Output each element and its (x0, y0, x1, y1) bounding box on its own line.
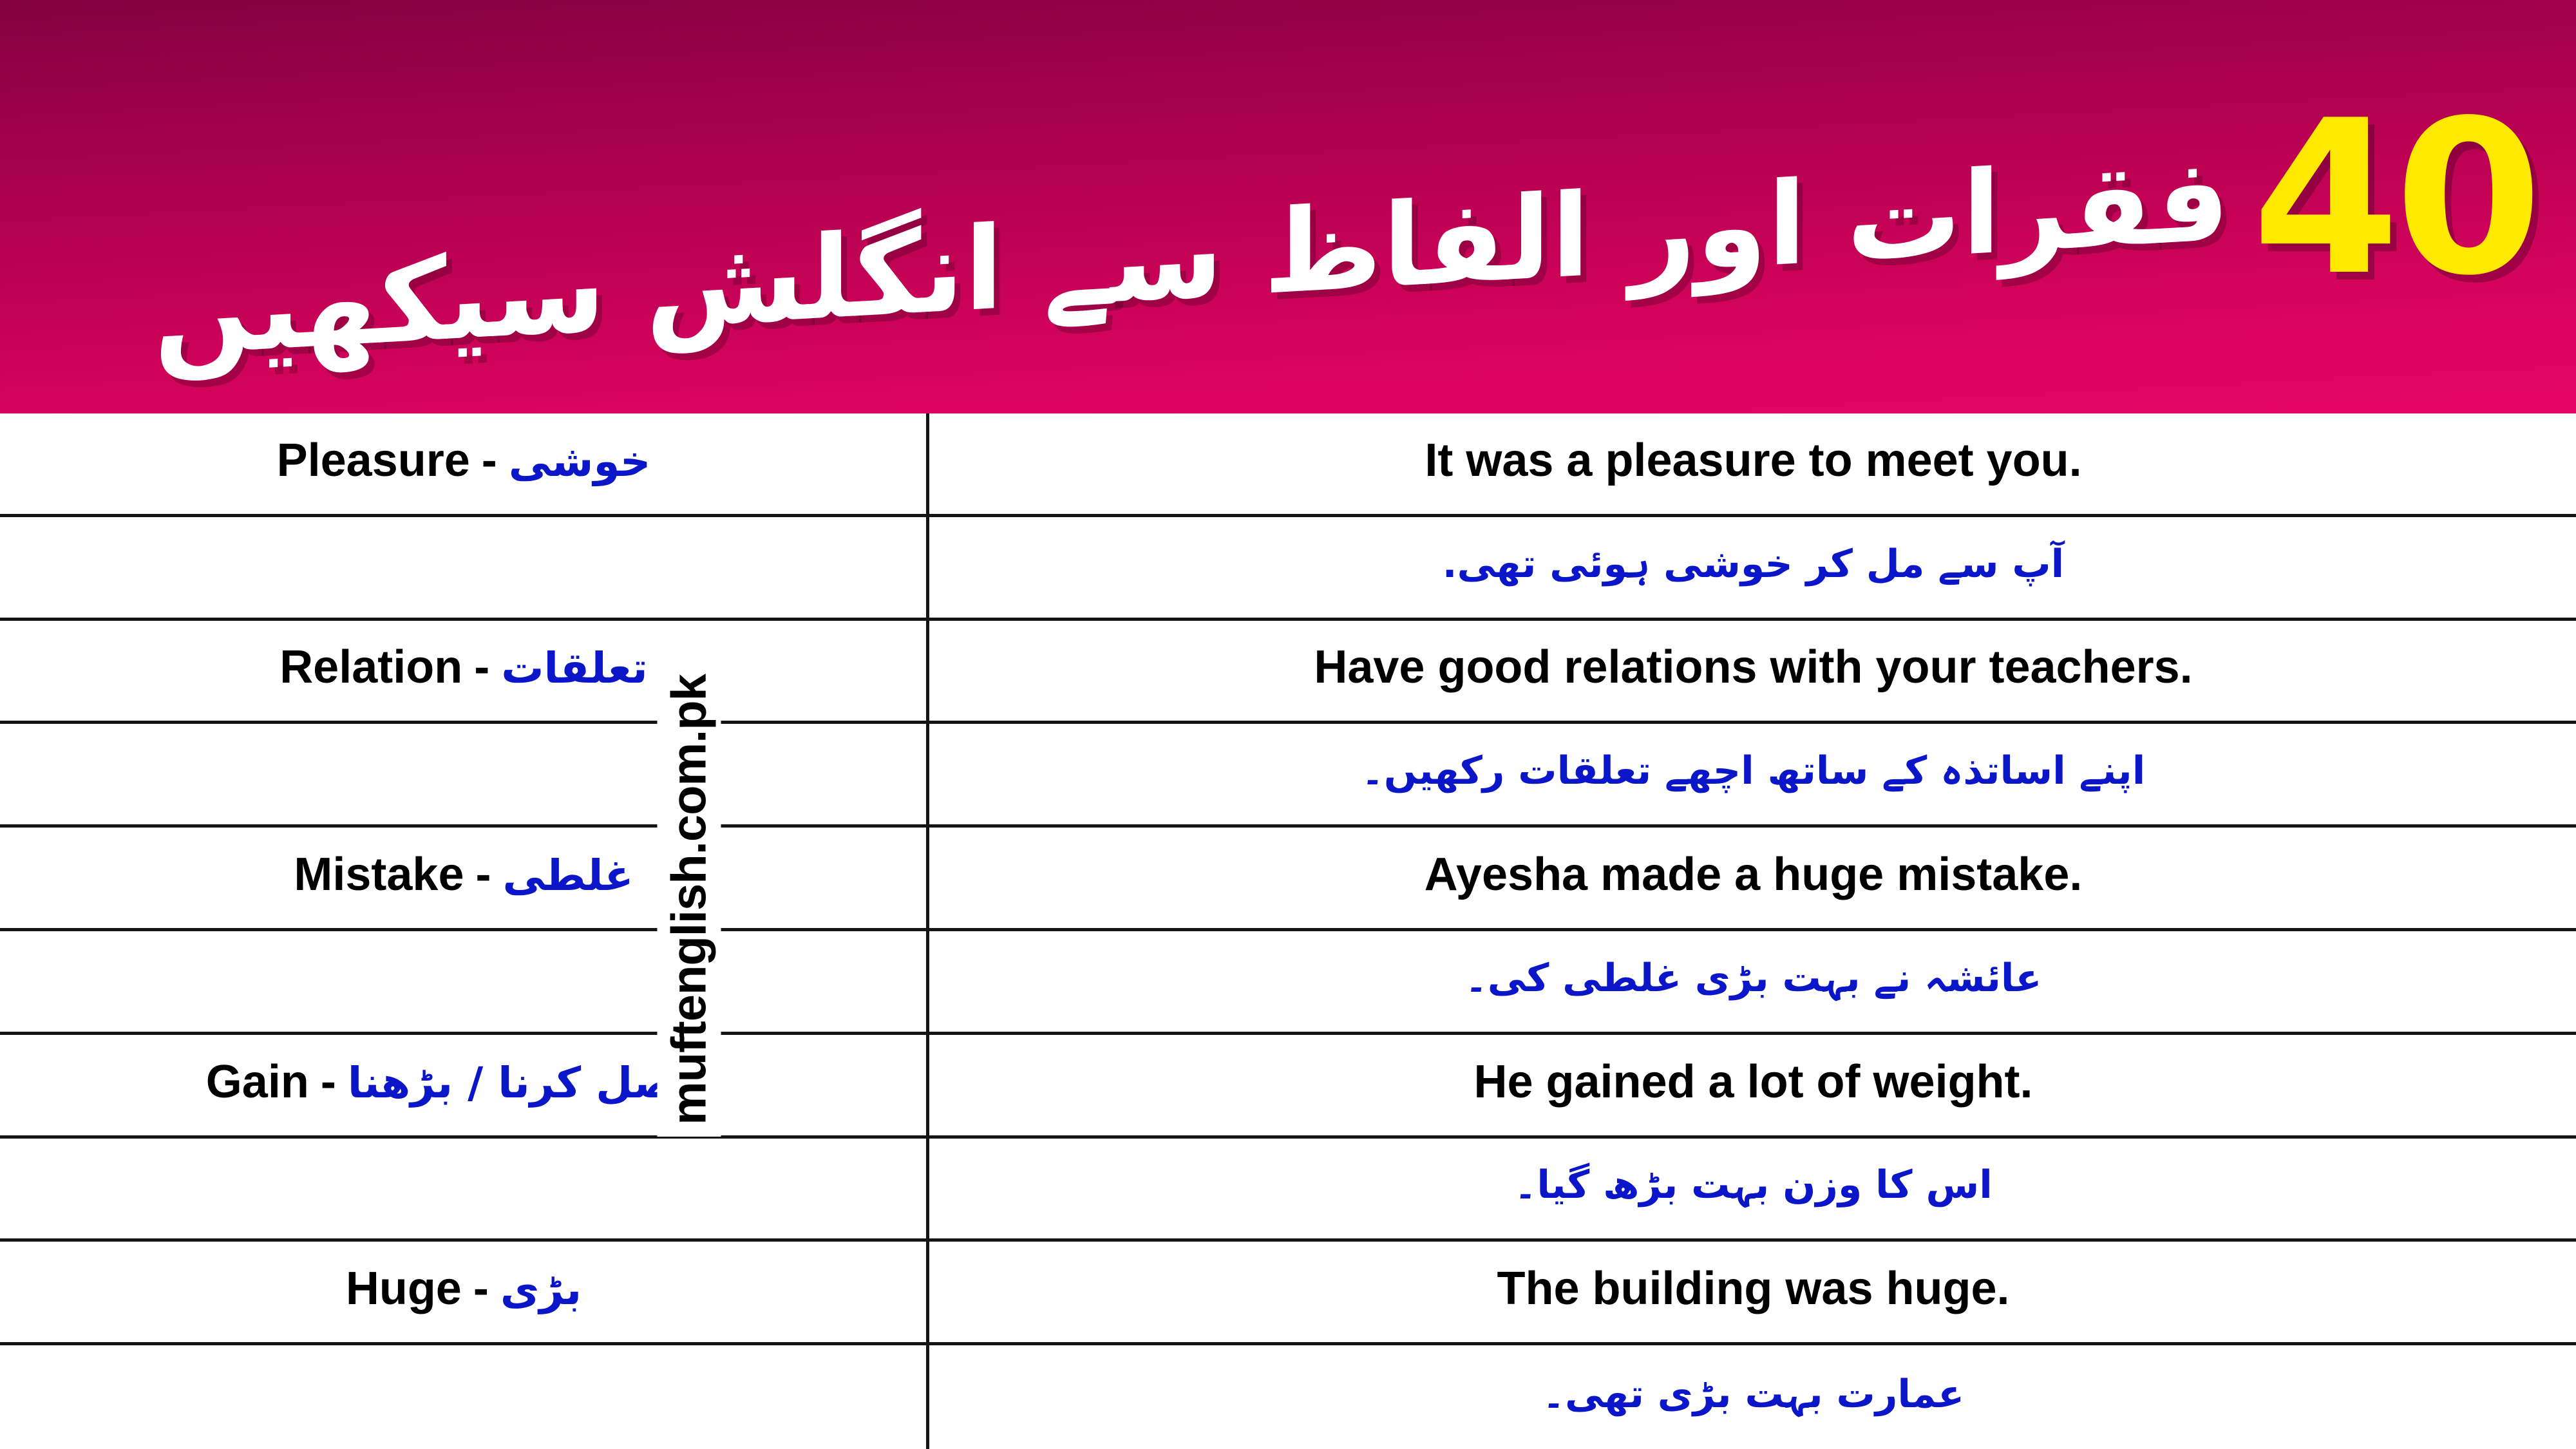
word-separator: - (482, 434, 497, 487)
header-count-number: 40 (2252, 111, 2537, 303)
word-pair: Gain - حاصل کرنا / بڑھنا (206, 1056, 721, 1108)
sentence-urdu: آپ سے مل کر خوشی ہوئی تھی. (1443, 542, 2064, 587)
word-cell-empty (0, 517, 927, 618)
word-separator: - (476, 848, 491, 901)
table-row: عمارت بہت بڑی تھی۔ (0, 1345, 2576, 1449)
sentence-cell: عائشہ نے بہت بڑی غلطی کی۔ (931, 931, 2576, 1032)
sentence-cell: اپنے اساتذہ کے ساتھ اچھے تعلقات رکھیں۔ (931, 724, 2576, 824)
word-pair: Huge - بڑی (346, 1262, 582, 1315)
word-cell: Relation - تعلقات (0, 621, 927, 721)
word-cell: Pleasure - خوشی (0, 413, 927, 514)
sentence-cell: آپ سے مل کر خوشی ہوئی تھی. (931, 517, 2576, 618)
word-urdu: خوشی (509, 437, 651, 486)
word-separator: - (473, 1262, 489, 1315)
table-row: Relation - تعلقات Have good relations wi… (0, 621, 2576, 724)
table-row: اپنے اساتذہ کے ساتھ اچھے تعلقات رکھیں۔ (0, 724, 2576, 828)
vocabulary-sheet-page: 40 فقرات اور الفاظ سے انگلش سیکھیں Pleas… (0, 0, 2576, 1449)
sentence-english: The building was huge. (1497, 1262, 2009, 1315)
header-content: 40 فقرات اور الفاظ سے انگلش سیکھیں (154, 0, 2537, 413)
header-title-urdu: فقرات اور الفاظ سے انگلش سیکھیں (154, 132, 2230, 397)
word-cell-empty (0, 724, 927, 824)
sentence-english: He gained a lot of weight. (1473, 1056, 2032, 1108)
table-row: Huge - بڑی The building was huge. (0, 1242, 2576, 1345)
word-english: Mistake (294, 848, 464, 901)
table-row: آپ سے مل کر خوشی ہوئی تھی. (0, 517, 2576, 621)
table-row: Mistake - غلطی Ayesha made a huge mistak… (0, 828, 2576, 931)
word-english: Relation (279, 641, 462, 694)
word-cell-empty (0, 1139, 927, 1239)
watermark-site-url: muftenglish.com.pk (658, 663, 721, 1137)
sentence-cell: اس کا وزن بہت بڑھ گیا۔ (931, 1139, 2576, 1239)
word-separator: - (321, 1056, 336, 1108)
word-english: Huge (346, 1262, 462, 1315)
table-row: اس کا وزن بہت بڑھ گیا۔ (0, 1139, 2576, 1242)
word-cell: Mistake - غلطی (0, 828, 927, 928)
table-row: Gain - حاصل کرنا / بڑھنا He gained a lot… (0, 1035, 2576, 1139)
word-cell: Gain - حاصل کرنا / بڑھنا (0, 1035, 927, 1135)
sentence-cell: It was a pleasure to meet you. (931, 413, 2576, 514)
word-cell: Huge - بڑی (0, 1242, 927, 1342)
word-english: Pleasure (277, 434, 470, 487)
sentence-english: Ayesha made a huge mistake. (1425, 848, 2083, 901)
sentence-urdu: عمارت بہت بڑی تھی۔ (1542, 1372, 1964, 1417)
word-pair: Relation - تعلقات (279, 641, 648, 694)
sentence-urdu: اس کا وزن بہت بڑھ گیا۔ (1514, 1162, 1993, 1207)
word-separator: - (474, 641, 489, 694)
word-cell-empty (0, 931, 927, 1032)
word-urdu: بڑی (500, 1265, 582, 1314)
word-urdu: تعلقات (501, 643, 648, 693)
word-english: Gain (206, 1056, 309, 1108)
table-row: Pleasure - خوشی It was a pleasure to mee… (0, 413, 2576, 517)
vocabulary-table: Pleasure - خوشی It was a pleasure to mee… (0, 413, 2576, 1449)
sentence-cell: Have good relations with your teachers. (931, 621, 2576, 721)
sentence-english: Have good relations with your teachers. (1314, 641, 2192, 694)
sentence-cell: Ayesha made a huge mistake. (931, 828, 2576, 928)
sentence-urdu: اپنے اساتذہ کے ساتھ اچھے تعلقات رکھیں۔ (1361, 748, 2146, 793)
sentence-cell: He gained a lot of weight. (931, 1035, 2576, 1135)
sentence-cell: The building was huge. (931, 1242, 2576, 1342)
sentence-english: It was a pleasure to meet you. (1425, 434, 2081, 487)
word-urdu: غلطی (503, 851, 634, 900)
word-pair: Mistake - غلطی (294, 848, 633, 901)
sentence-cell: عمارت بہت بڑی تھی۔ (931, 1345, 2576, 1449)
column-divider (926, 413, 929, 1449)
sentence-urdu: عائشہ نے بہت بڑی غلطی کی۔ (1465, 956, 2042, 1001)
word-pair: Pleasure - خوشی (277, 434, 651, 487)
word-cell-empty (0, 1345, 927, 1449)
table-row: عائشہ نے بہت بڑی غلطی کی۔ (0, 931, 2576, 1035)
header-banner: 40 فقرات اور الفاظ سے انگلش سیکھیں (0, 0, 2576, 413)
